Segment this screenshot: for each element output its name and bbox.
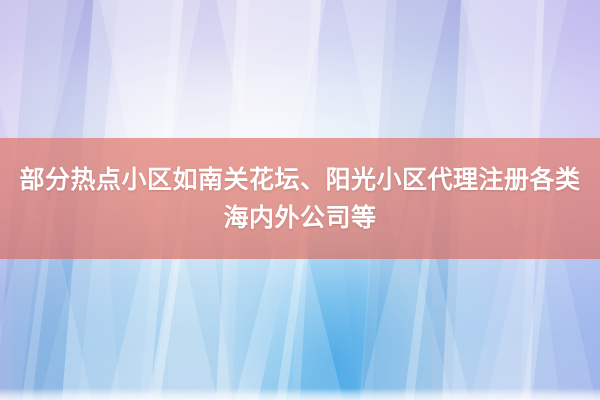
headline-text: 部分热点小区如南关花坛、阳光小区代理注册各类 海内外公司等 (0, 138, 600, 259)
headline-line-1: 部分热点小区如南关花坛、阳光小区代理注册各类 (19, 161, 580, 199)
bottom-light-strip (0, 388, 600, 400)
promotional-banner: 部分热点小区如南关花坛、阳光小区代理注册各类 海内外公司等 (0, 0, 600, 400)
headline-line-2: 海内外公司等 (223, 199, 376, 237)
